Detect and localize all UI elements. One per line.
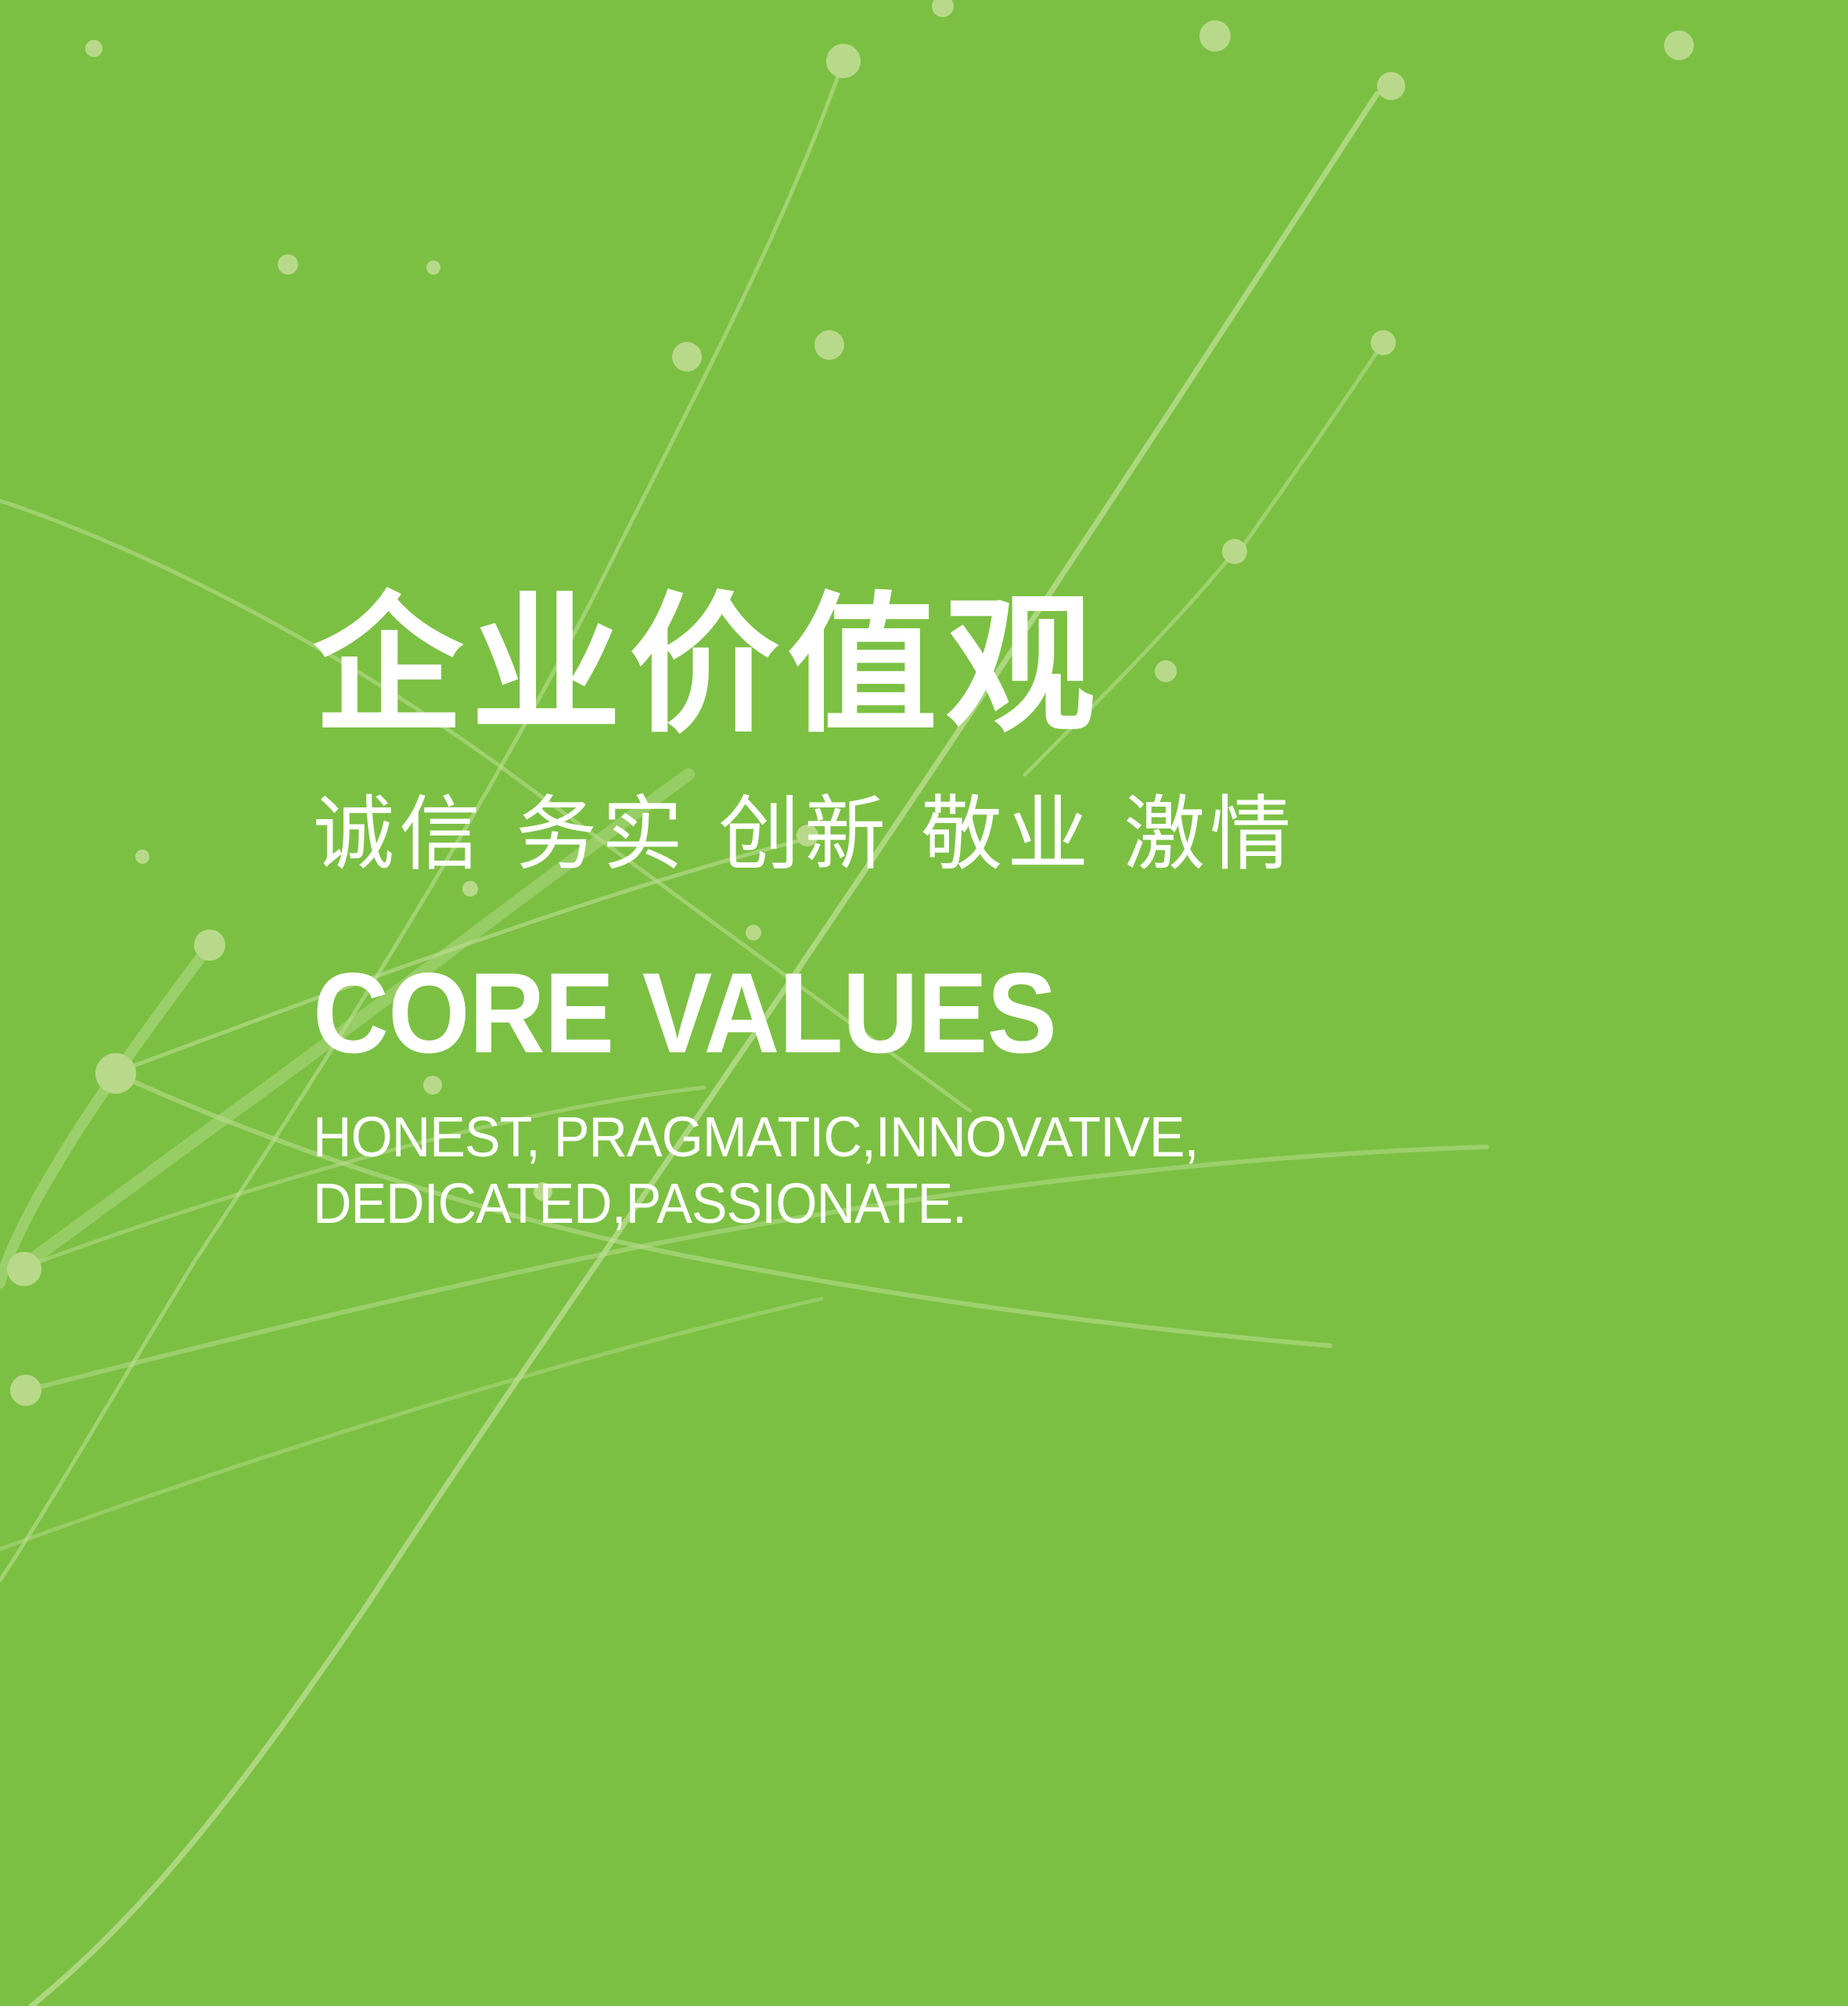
network-dot <box>826 44 861 78</box>
network-dot <box>85 40 102 57</box>
network-dot <box>932 0 954 17</box>
poster-canvas: 企业价值观 诚信 务实 创新 敬业 激情 CORE VALUES HONEST,… <box>0 0 1848 2006</box>
network-dot <box>1199 20 1231 52</box>
network-dot <box>426 261 440 275</box>
network-dot <box>1664 31 1694 60</box>
english-body-line-1: HONEST, PRAGMATIC,INNOVATIVE, <box>313 1105 1695 1171</box>
english-title: CORE VALUES <box>313 956 1652 1070</box>
headline-block: 企业价值观 诚信 务实 创新 敬业 激情 CORE VALUES HONEST,… <box>313 591 1768 1238</box>
chinese-subtitle: 诚信 务实 创新 敬业 激情 <box>313 793 1768 875</box>
network-dot <box>7 1252 41 1286</box>
network-dot <box>672 342 702 372</box>
network-dot <box>814 330 844 360</box>
network-dot <box>1371 330 1396 355</box>
network-dot <box>278 254 298 275</box>
chinese-title: 企业价值观 <box>313 591 1768 742</box>
network-dot <box>135 850 149 864</box>
english-body-line-2: DEDICATED,PASSIONATE. <box>313 1171 1695 1238</box>
network-dot <box>95 1053 136 1094</box>
english-body: HONEST, PRAGMATIC,INNOVATIVE, DEDICATED,… <box>313 1105 1695 1238</box>
network-dot <box>1222 539 1247 564</box>
network-dot <box>1377 72 1405 100</box>
network-dot <box>10 1375 41 1406</box>
network-dot <box>194 929 225 961</box>
